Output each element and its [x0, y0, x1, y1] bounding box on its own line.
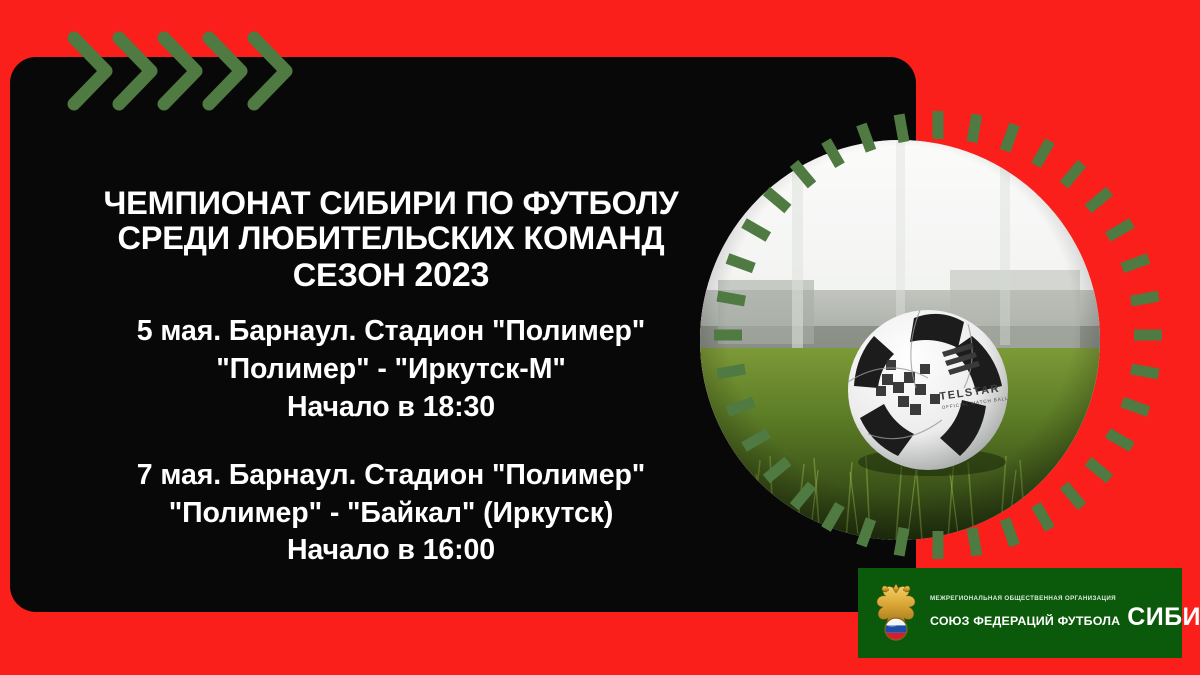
match-block-2: 7 мая. Барнаул. Стадион "Полимер" "Полим…: [0, 457, 782, 570]
match-block-1: 5 мая. Барнаул. Стадион "Полимер" "Полим…: [0, 313, 782, 426]
title-line-3: СЕЗОН 2023: [6, 257, 776, 294]
match-1-kickoff: Начало в 18:30: [0, 389, 782, 427]
season-year: 2023: [414, 256, 489, 294]
season-label: СЕЗОН: [293, 257, 415, 293]
badge-org-line: МЕЖРЕГИОНАЛЬНАЯ ОБЩЕСТВЕННАЯ ОРГАНИЗАЦИЯ: [930, 596, 1200, 602]
title-line-2: СРЕДИ ЛЮБИТЕЛЬСКИХ КОМАНД: [6, 221, 776, 256]
match-1-teams: "Полимер" - "Иркутск-М": [0, 351, 782, 389]
match-2-kickoff: Начало в 16:00: [0, 532, 782, 570]
title-line-1: ЧЕМПИОНАТ СИБИРИ ПО ФУТБОЛУ: [6, 186, 776, 221]
badge-union-line: СОЮЗ ФЕДЕРАЦИЙ ФУТБОЛА: [930, 615, 1120, 627]
chevron-arrows: [66, 30, 306, 117]
match-1-venue: 5 мая. Барнаул. Стадион "Полимер": [0, 313, 782, 351]
badge-region-line: СИБИРЬ: [1127, 605, 1200, 630]
poster-text: ЧЕМПИОНАТ СИБИРИ ПО ФУТБОЛУ СРЕДИ ЛЮБИТЕ…: [0, 186, 782, 570]
badge-text-group: МЕЖРЕГИОНАЛЬНАЯ ОБЩЕСТВЕННАЯ ОРГАНИЗАЦИЯ…: [930, 596, 1200, 630]
badge-name-row: СОЮЗ ФЕДЕРАЦИЙ ФУТБОЛА СИБИРЬ: [930, 605, 1200, 630]
poster-canvas: TELSTAR OFFICIAL MATCH BALL ЧЕМПИОНАТ СИ…: [0, 0, 1200, 675]
federation-badge: МЕЖРЕГИОНАЛЬНАЯ ОБЩЕСТВЕННАЯ ОРГАНИЗАЦИЯ…: [858, 568, 1182, 658]
match-2-venue: 7 мая. Барнаул. Стадион "Полимер": [0, 457, 782, 495]
double-headed-eagle-icon: [868, 582, 924, 644]
match-2-teams: "Полимер" - "Байкал" (Иркутск): [0, 495, 782, 533]
page-title: ЧЕМПИОНАТ СИБИРИ ПО ФУТБОЛУ СРЕДИ ЛЮБИТЕ…: [0, 186, 782, 293]
